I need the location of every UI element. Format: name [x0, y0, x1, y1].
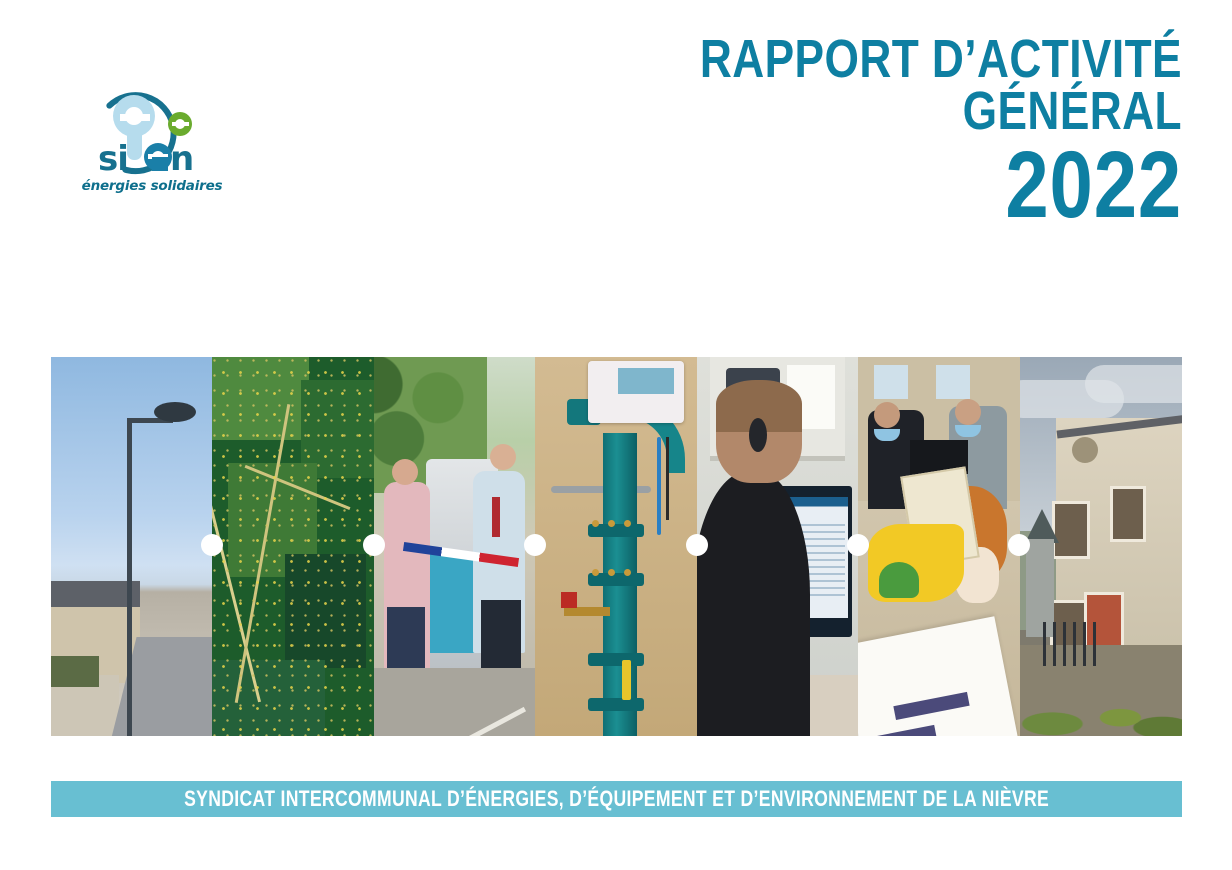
sien-logo-mark: si n [72, 78, 232, 178]
town-hall-building-photo [1020, 357, 1182, 736]
water-network-photo [535, 357, 697, 736]
logo-blue-e [144, 143, 172, 171]
svg-text:n: n [170, 139, 194, 178]
title-line-general: GÉNÉRAL [608, 86, 1182, 138]
photo-separator-dot [686, 534, 708, 556]
photo-separator-dot [524, 534, 546, 556]
photo-separator-dot [847, 534, 869, 556]
it-support-photo [697, 357, 858, 736]
street-lighting-photo [51, 357, 212, 736]
title-line-report: RAPPORT D’ACTIVITÉ [608, 34, 1182, 86]
logo-green-e [168, 112, 192, 136]
organisation-banner: SYNDICAT INTERCOMMUNAL D’ÉNERGIES, D’ÉQU… [51, 781, 1182, 817]
meeting-mascot-photo [858, 357, 1020, 736]
organisation-name: SYNDICAT INTERCOMMUNAL D’ÉNERGIES, D’ÉQU… [184, 786, 1049, 812]
svg-text:si: si [98, 139, 128, 178]
brand-tagline: énergies solidaires [72, 178, 232, 194]
ev-charging-inauguration-photo [374, 357, 535, 736]
photo-separator-dot [201, 534, 223, 556]
brand-logo: si n énergies solidaires [72, 78, 232, 203]
aerial-map-photo [212, 357, 374, 736]
photo-separator-dot [363, 534, 385, 556]
title-line-year: 2022 [608, 140, 1182, 231]
photo-separator-dot [1008, 534, 1030, 556]
cover-title: RAPPORT D’ACTIVITÉ GÉNÉRAL 2022 [482, 34, 1182, 231]
